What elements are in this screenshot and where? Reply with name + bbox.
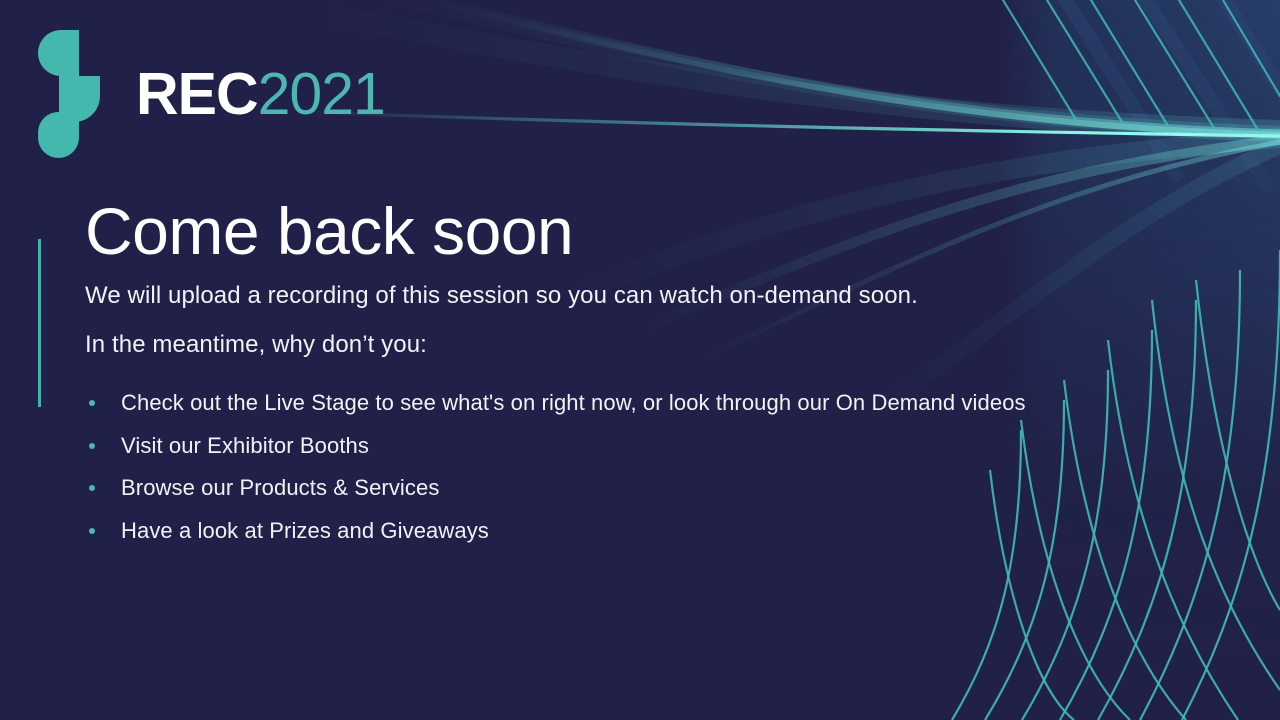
slide-root: REC2021 Come back soon We will upload a … bbox=[0, 0, 1280, 720]
logo-lobe-top bbox=[38, 30, 79, 76]
list-item-label: Browse our Products & Services bbox=[121, 475, 439, 500]
list-item: Have a look at Prizes and Giveaways bbox=[85, 510, 1045, 553]
bullet-dot-icon bbox=[89, 528, 95, 534]
logo-lobe-bottom bbox=[38, 112, 79, 158]
logo-wordmark: REC2021 bbox=[136, 65, 385, 124]
logo-wordmark-year: 2021 bbox=[258, 61, 385, 127]
body-paragraph-1: We will upload a recording of this sessi… bbox=[85, 283, 1045, 308]
list-item: Visit our Exhibitor Booths bbox=[85, 425, 1045, 468]
page-title: Come back soon bbox=[85, 196, 1045, 267]
rec-logo-mark-icon bbox=[38, 30, 100, 158]
bullet-dot-icon bbox=[89, 485, 95, 491]
rec2021-logo: REC2021 bbox=[38, 30, 385, 158]
bullet-dot-icon bbox=[89, 443, 95, 449]
accent-bar bbox=[38, 239, 41, 407]
list-item: Browse our Products & Services bbox=[85, 467, 1045, 510]
suggestions-list: Check out the Live Stage to see what's o… bbox=[85, 382, 1045, 554]
list-item-label: Check out the Live Stage to see what's o… bbox=[121, 390, 1026, 415]
list-item-label: Visit our Exhibitor Booths bbox=[121, 433, 369, 458]
logo-wordmark-primary: REC bbox=[136, 61, 258, 127]
list-item-label: Have a look at Prizes and Giveaways bbox=[121, 518, 489, 543]
body-paragraph-2: In the meantime, why don’t you: bbox=[85, 332, 1045, 357]
bullet-dot-icon bbox=[89, 400, 95, 406]
slide-content: Come back soon We will upload a recordin… bbox=[85, 196, 1045, 553]
list-item: Check out the Live Stage to see what's o… bbox=[85, 382, 1045, 425]
